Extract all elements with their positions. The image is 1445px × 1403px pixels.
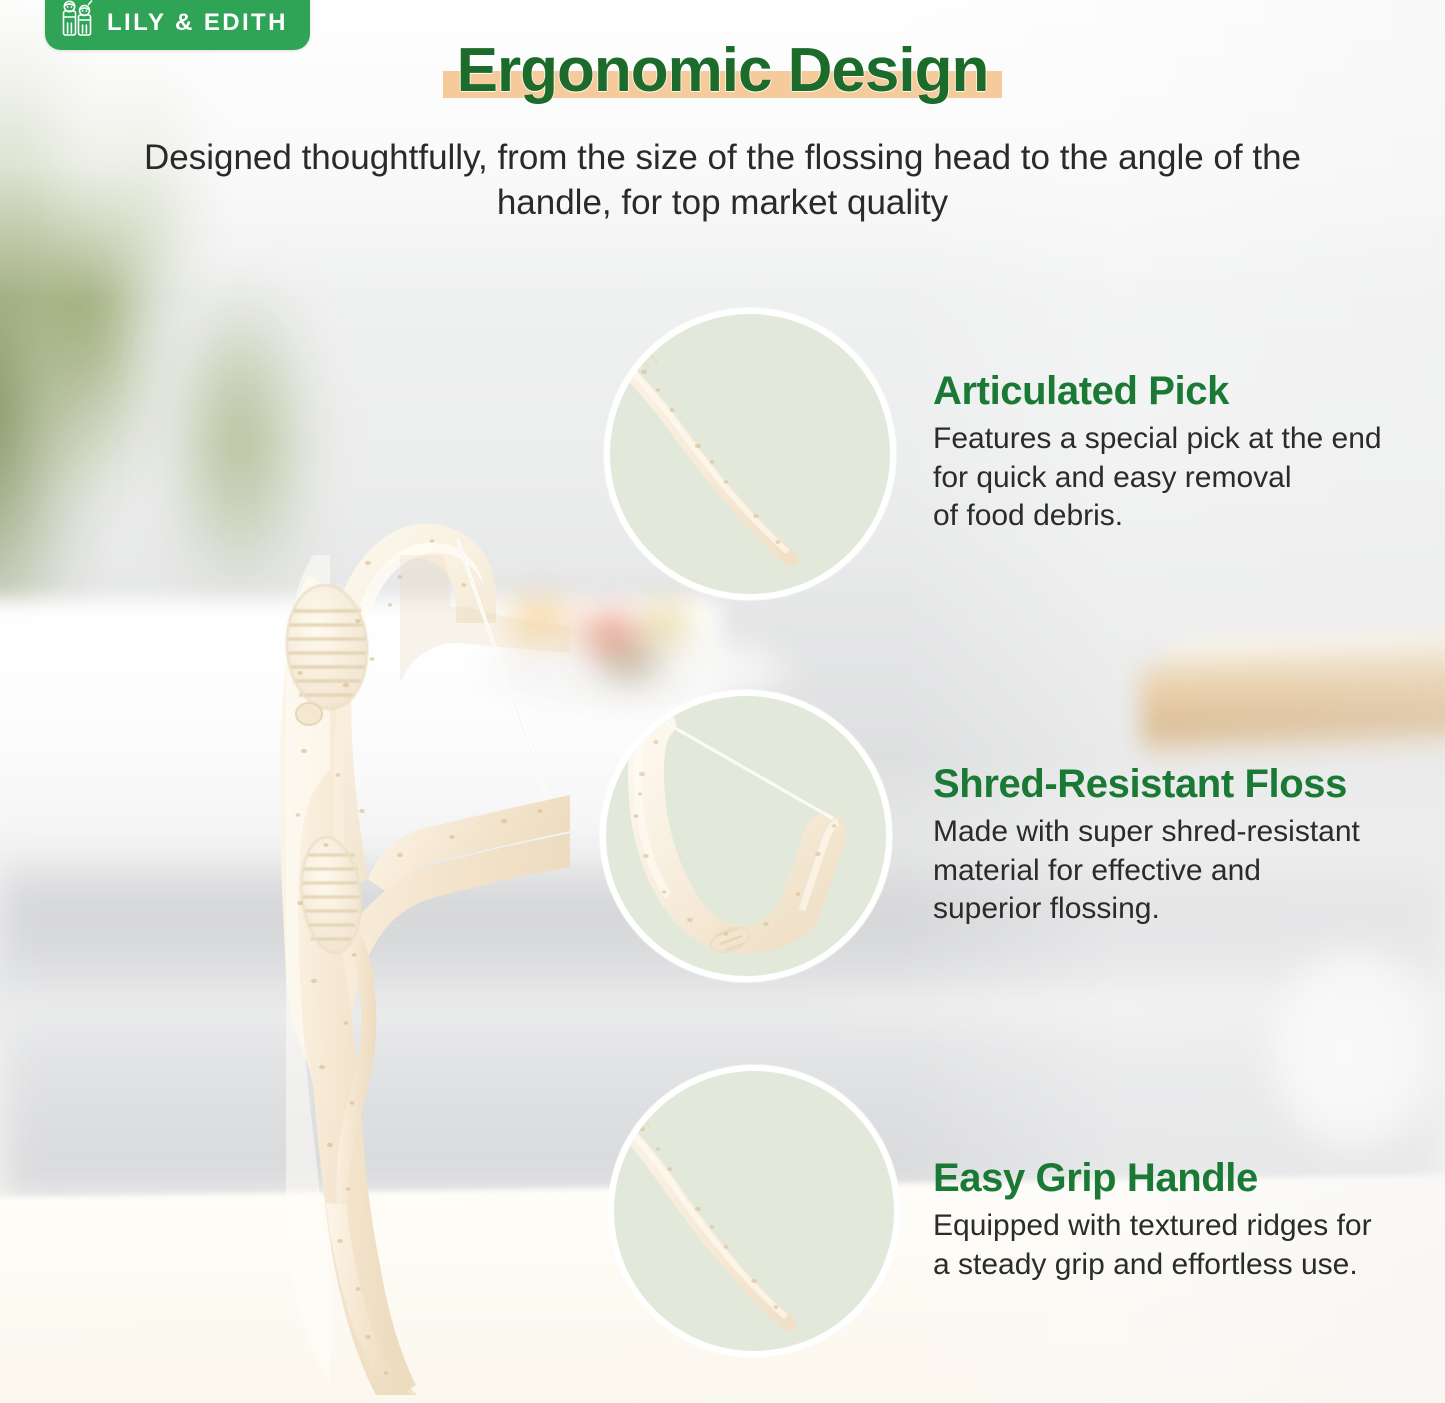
handle-dimple xyxy=(296,703,322,726)
feature-description: Equipped with textured ridges for a stea… xyxy=(933,1207,1433,1284)
feature-line-2: a steady grip and effortless use. xyxy=(933,1246,1433,1285)
callout-circle-shred-resistant-floss xyxy=(600,690,892,982)
callout-circle-articulated-pick xyxy=(604,308,896,600)
page-title: Ergonomic Design xyxy=(457,36,989,105)
feature-heading: Articulated Pick xyxy=(933,370,1433,412)
feature-line-1: Features a special pick at the end xyxy=(933,420,1433,459)
page-subtitle: Designed thoughtfully, from the size of … xyxy=(53,136,1393,226)
feature-line-3: superior flossing. xyxy=(933,890,1433,929)
feature-line-1: Made with super shred-resistant xyxy=(933,813,1433,852)
brand-name-label: LILY & EDITH xyxy=(107,7,288,35)
product-floss-pick-image xyxy=(100,255,570,1395)
feature-articulated-pick: Articulated Pick Features a special pick… xyxy=(933,370,1433,536)
feature-line-2: material for effective and xyxy=(933,852,1433,891)
feature-heading: Easy Grip Handle xyxy=(933,1157,1433,1199)
feature-line-3: of food debris. xyxy=(933,497,1433,536)
page-title-wrapper: Ergonomic Design xyxy=(0,38,1445,103)
infographic-canvas: LILY & EDITH Ergonomic Design Designed t… xyxy=(0,0,1445,1403)
callout-circle-easy-grip-handle xyxy=(608,1065,900,1357)
subtitle-line-1: Designed thoughtfully, from the size of … xyxy=(53,136,1393,181)
two-figures-icon xyxy=(61,0,95,44)
feature-shred-resistant-floss: Shred-Resistant Floss Made with super sh… xyxy=(933,763,1433,929)
feature-line-1: Equipped with textured ridges for xyxy=(933,1207,1433,1246)
feature-description: Features a special pick at the end for q… xyxy=(933,420,1433,536)
feature-easy-grip-handle: Easy Grip Handle Equipped with textured … xyxy=(933,1157,1433,1284)
feature-line-2: for quick and easy removal xyxy=(933,459,1433,498)
subtitle-line-2: handle, for top market quality xyxy=(53,181,1393,226)
feature-heading: Shred-Resistant Floss xyxy=(933,763,1433,805)
feature-description: Made with super shred-resistant material… xyxy=(933,813,1433,929)
